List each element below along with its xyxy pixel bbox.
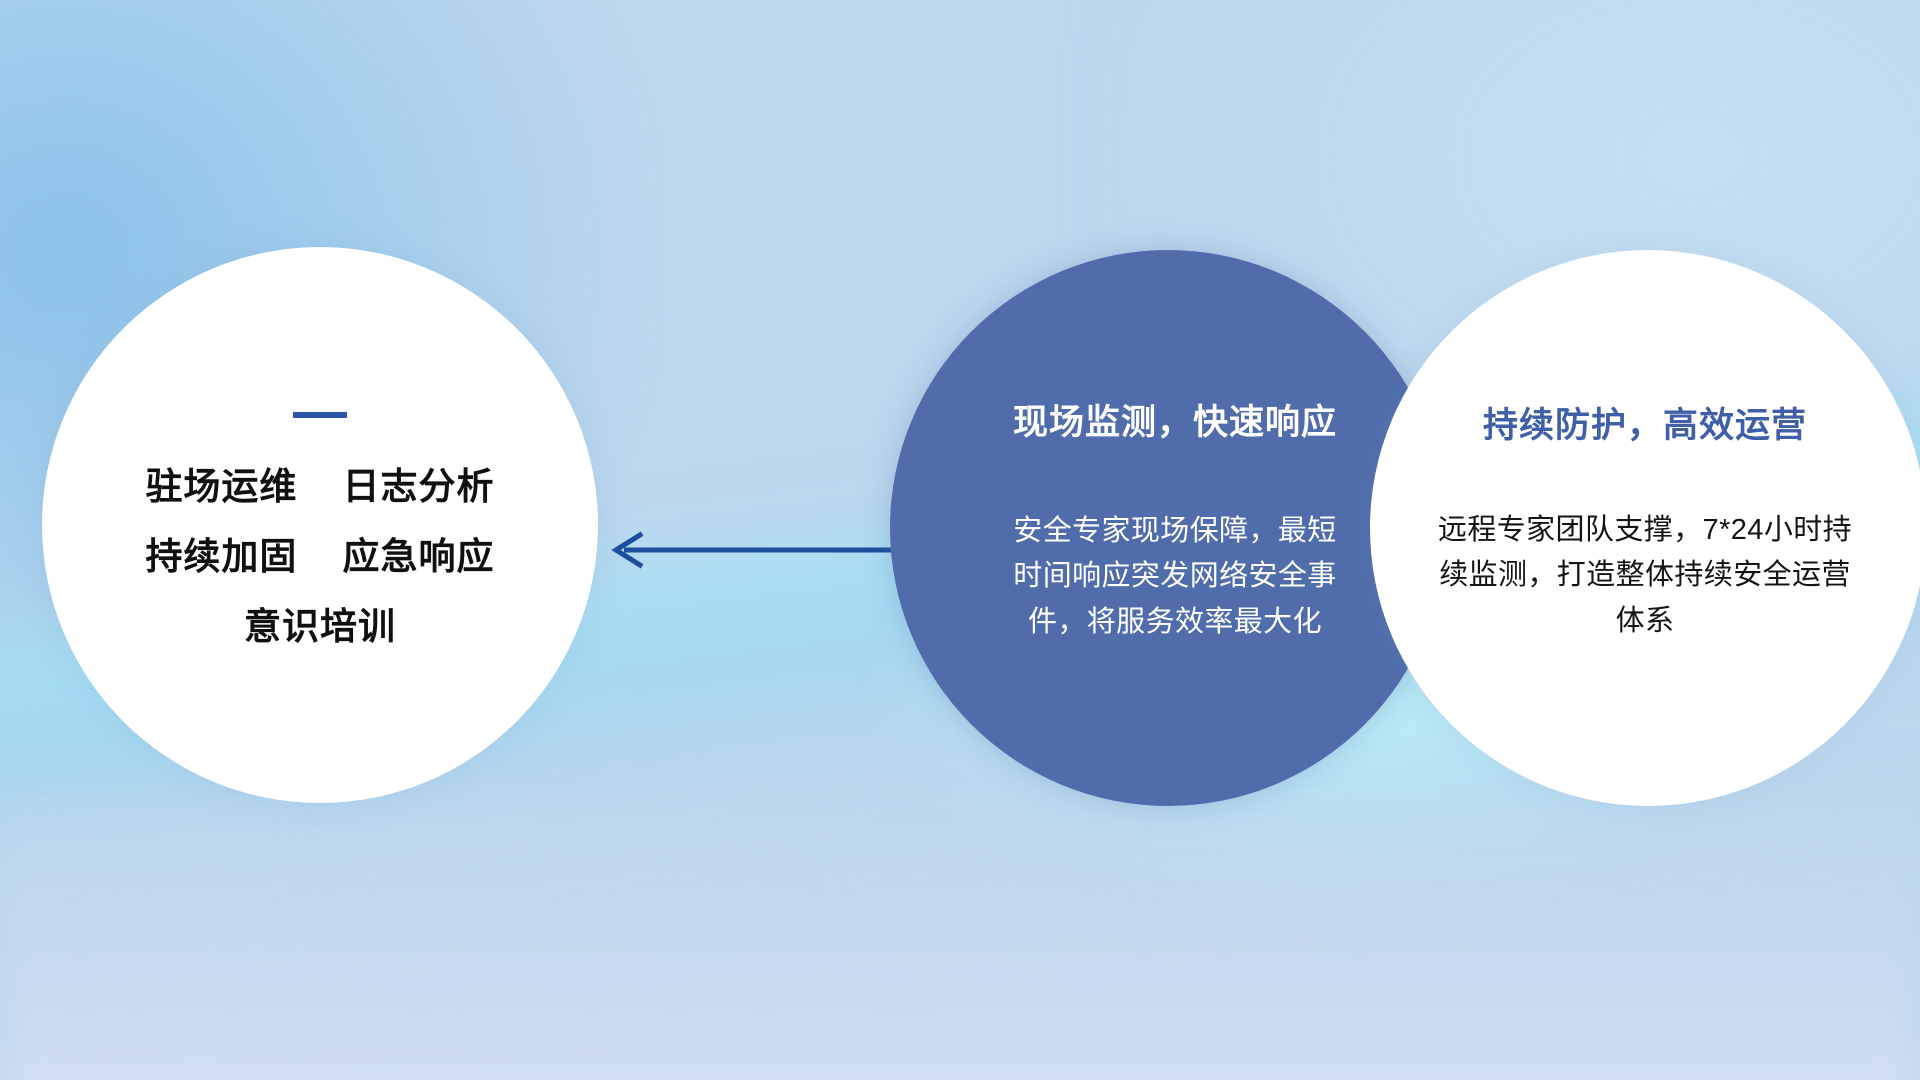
capabilities-content: 驻场运维 日志分析 持续加固 应急响应 意识培训 — [100, 412, 540, 645]
diagram-stage: 驻场运维 日志分析 持续加固 应急响应 意识培训 现场监测，快速响应 安全专家现… — [0, 0, 1920, 1080]
onsite-monitoring-title: 现场监测，快速响应 — [967, 404, 1383, 443]
title-divider-dash — [293, 412, 347, 418]
capabilities-circle[interactable]: 驻场运维 日志分析 持续加固 应急响应 意识培训 — [42, 247, 598, 803]
capability-line-1: 驻场运维 日志分析 — [100, 468, 540, 505]
onsite-monitoring-body: 安全专家现场保障，最短时间响应突发网络安全事件，将服务效率最大化 — [1010, 509, 1340, 646]
continuous-protection-content: 持续防护，高效运营 远程专家团队支撑，7*24小时持续监测，打造整体持续安全运营… — [1428, 407, 1868, 645]
capability-line-2: 持续加固 应急响应 — [100, 538, 540, 575]
flow-arrow-left-icon — [600, 520, 900, 580]
onsite-monitoring-content: 现场监测，快速响应 安全专家现场保障，最短时间响应突发网络安全事件，将服务效率最… — [953, 404, 1383, 646]
capability-line-3: 意识培训 — [100, 608, 540, 645]
continuous-protection-body: 远程专家团队支撑，7*24小时持续监测，打造整体持续安全运营体系 — [1435, 508, 1855, 645]
continuous-protection-title: 持续防护，高效运营 — [1428, 407, 1862, 446]
onsite-monitoring-circle[interactable]: 现场监测，快速响应 安全专家现场保障，最短时间响应突发网络安全事件，将服务效率最… — [890, 250, 1446, 806]
continuous-protection-circle[interactable]: 持续防护，高效运营 远程专家团队支撑，7*24小时持续监测，打造整体持续安全运营… — [1370, 250, 1920, 806]
flow-arrow-left — [600, 520, 900, 580]
